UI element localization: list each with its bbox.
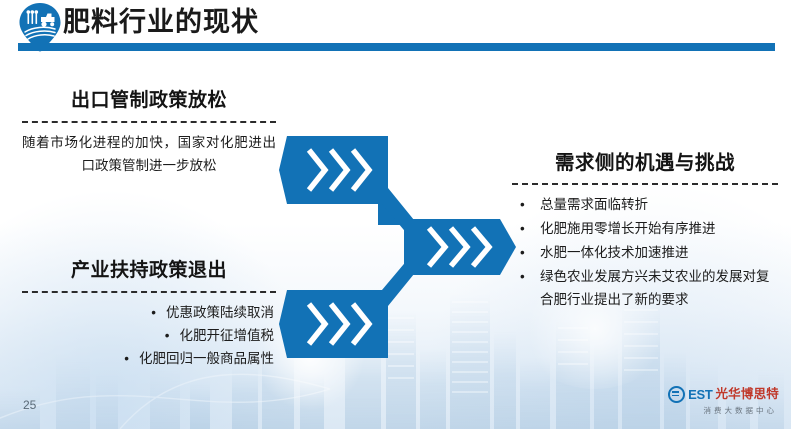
list-item: •绿色农业发展方兴未艾农业的发展对复合肥行业提出了新的要求 <box>512 265 778 311</box>
block-export-policy: 出口管制政策放松 随着市场化进程的加快，国家对化肥进出口政策管制进一步放松 <box>22 88 276 177</box>
list-item-label: 化肥开征增值税 <box>180 328 275 343</box>
list-item-label: 绿色农业发展方兴未艾农业的发展对复合肥行业提出了新的要求 <box>540 269 770 307</box>
list-item: •化肥回归一般商品属性 <box>22 347 276 370</box>
block-export-paragraph: 随着市场化进程的加快，国家对化肥进出口政策管制进一步放松 <box>22 131 276 177</box>
brand-tagline: 消费大数据中心 <box>651 405 779 417</box>
divider-dashed-subsidy <box>22 291 276 293</box>
list-item: •优惠政策陆续取消 <box>22 301 276 324</box>
merged-output-arrow-shape <box>404 219 516 275</box>
header-accent-bar <box>18 43 775 51</box>
block-export-heading: 出口管制政策放松 <box>22 88 276 114</box>
bullet-dot-icon: • <box>165 328 170 343</box>
list-item-label: 化肥回归一般商品属性 <box>139 351 274 366</box>
bullet-dot-icon: • <box>151 305 156 320</box>
list-item: •化肥开征增值税 <box>22 324 276 347</box>
page-number: 25 <box>23 398 36 412</box>
block-demand-heading: 需求侧的机遇与挑战 <box>512 150 778 176</box>
top-input-arrow-shape <box>279 136 414 242</box>
block-subsidy-heading: 产业扶持政策退出 <box>22 258 276 284</box>
brand-mark-icon <box>668 386 685 403</box>
page-title: 肥料行业的现状 <box>63 4 259 40</box>
list-item: •总量需求面临转折 <box>512 193 778 216</box>
brand-logo: EST 光华博思特 消费大数据中心 <box>651 386 779 420</box>
list-item: •水肥一体化技术加速推进 <box>512 241 778 264</box>
block-subsidy-bullet-list: •优惠政策陆续取消 •化肥开征增值税 •化肥回归一般商品属性 <box>22 301 276 370</box>
block-subsidy-policy: 产业扶持政策退出 •优惠政策陆续取消 •化肥开征增值税 •化肥回归一般商品属性 <box>22 258 276 370</box>
divider-dashed-export <box>22 121 276 123</box>
brand-name-cn: 光华博思特 <box>715 388 779 401</box>
bottom-input-arrow-shape <box>279 252 414 358</box>
slide-canvas: 肥料行业的现状 出口管制政策放松 随着市场化进程的加快，国家对化肥进出口政策管制… <box>0 0 791 429</box>
merge-arrows-graphic <box>278 126 522 366</box>
list-item-label: 化肥施用零增长开始有序推进 <box>540 221 716 236</box>
list-item-label: 优惠政策陆续取消 <box>166 305 274 320</box>
block-demand-bullet-list: •总量需求面临转折 •化肥施用零增长开始有序推进 •水肥一体化技术加速推进 •绿… <box>512 193 778 311</box>
list-item-label: 水肥一体化技术加速推进 <box>540 245 689 260</box>
brand-name-en: EST <box>688 388 712 401</box>
divider-dashed-demand <box>512 183 778 185</box>
list-item: •化肥施用零增长开始有序推进 <box>512 217 778 240</box>
block-demand-side: 需求侧的机遇与挑战 •总量需求面临转折 •化肥施用零增长开始有序推进 •水肥一体… <box>512 150 778 312</box>
farm-pin-logo-icon <box>17 2 63 52</box>
list-item-label: 总量需求面临转折 <box>540 197 648 212</box>
bullet-dot-icon: • <box>124 351 129 366</box>
